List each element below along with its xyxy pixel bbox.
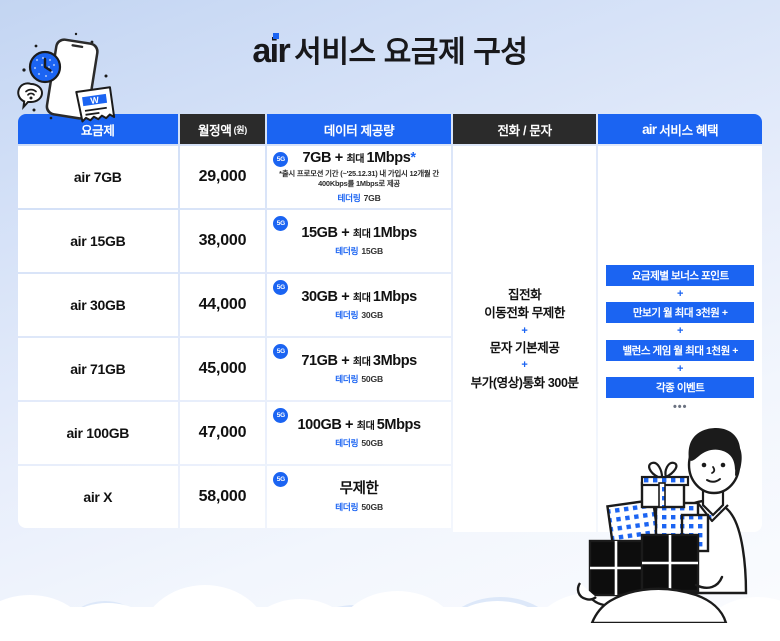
tethering-info: 테더링50GB <box>335 501 383 513</box>
header-monthly-fee: 월정액(원) <box>180 114 266 144</box>
plan-name: air 15GB <box>70 233 125 249</box>
plan-name: air X <box>83 489 112 505</box>
data-amount: 100GB + 최대 5Mbps <box>297 417 420 434</box>
5g-badge-icon: 5G <box>273 280 288 295</box>
price-cell: 38,000 <box>180 210 266 272</box>
table-row[interactable]: air 15GB <box>18 210 178 272</box>
price-value: 47,000 <box>199 424 247 442</box>
price-value: 29,000 <box>199 168 247 186</box>
column-plan-names: air 7GB air 15GB air 30GB air 71GB air 1… <box>18 146 178 532</box>
voice-details: 집전화 이동전화 무제한 + 문자 기본제공 + 부가(영상)통화 300분 <box>471 286 579 392</box>
header-voice-sms: 전화 / 문자 <box>453 114 597 144</box>
plus-separator: + <box>677 361 683 378</box>
voice-line-2: 이동전화 무제한 <box>471 304 579 322</box>
price-value: 44,000 <box>199 296 247 314</box>
data-amount: 30GB + 최대 1Mbps <box>301 289 417 306</box>
gift-person-illustration <box>570 423 780 623</box>
benefit-pill-bonus-points[interactable]: 요금제별 보너스 포인트 <box>606 265 754 286</box>
price-value: 38,000 <box>199 232 247 250</box>
benefit-pill-pedometer[interactable]: 만보기 월 최대 3천원 + <box>606 302 754 323</box>
5g-badge-icon: 5G <box>273 344 288 359</box>
data-amount: 무제한 <box>340 481 379 498</box>
voice-line-1: 집전화 <box>471 286 579 304</box>
brand-text: air <box>252 32 289 70</box>
plus-separator: + <box>677 286 683 303</box>
tethering-info: 테더링50GB <box>335 437 383 449</box>
plan-name: air 100GB <box>66 425 129 441</box>
benefits-list: 요금제별 보너스 포인트 + 만보기 월 최대 3천원 + + 밸런스 게임 월… <box>604 265 756 414</box>
data-cell: 5G 7GB + 최대 1Mbps* *출시 프로모션 기간 (~'25.12.… <box>267 146 451 208</box>
data-amount: 15GB + 최대 1Mbps <box>301 225 417 242</box>
price-value: 45,000 <box>199 360 247 378</box>
5g-badge-icon: 5G <box>273 216 288 231</box>
data-cell: 5G 15GB + 최대 1Mbps 테더링15GB <box>267 210 451 272</box>
benefit-pill-balance-game[interactable]: 밸런스 게임 월 최대 1천원 + <box>606 340 754 361</box>
voice-line-3: 문자 기본제공 <box>471 339 579 357</box>
plan-name: air 71GB <box>70 361 125 377</box>
plus-separator: + <box>677 323 683 340</box>
data-cell: 5G 71GB + 최대 3Mbps 테더링50GB <box>267 338 451 400</box>
5g-badge-icon: 5G <box>273 408 288 423</box>
table-row[interactable]: air X <box>18 466 178 528</box>
brand-logo: air <box>252 34 289 68</box>
plus-separator: + <box>471 323 579 340</box>
brand-dot-icon <box>273 33 279 39</box>
phone-illustration: W <box>16 22 124 130</box>
poster-canvas: air서비스 요금제 구성 <box>0 0 780 641</box>
tethering-info: 테더링50GB <box>335 373 383 385</box>
benefit-pill-events[interactable]: 각종 이벤트 <box>606 377 754 398</box>
data-cell: 5G 무제한 테더링50GB <box>267 466 451 528</box>
title-text: 서비스 요금제 구성 <box>294 36 527 69</box>
price-cell: 58,000 <box>180 466 266 528</box>
data-cell: 5G 30GB + 최대 1Mbps 테더링30GB <box>267 274 451 336</box>
plan-name: air 7GB <box>74 169 122 185</box>
price-cell: 45,000 <box>180 338 266 400</box>
table-header-row: 요금제 월정액(원) 데이터 제공량 전화 / 문자 air서비스 혜택 <box>18 114 762 144</box>
plus-separator: + <box>471 357 579 374</box>
price-value: 58,000 <box>199 488 247 506</box>
table-row[interactable]: air 100GB <box>18 402 178 464</box>
more-benefits-indicator: ••• <box>673 402 688 413</box>
price-cell: 29,000 <box>180 146 266 208</box>
promo-note: *출시 프로모션 기간 (~'25.12.31) 내 가입시 12개월 간 40… <box>273 169 445 189</box>
data-cell: 5G 100GB + 최대 5Mbps 테더링50GB <box>267 402 451 464</box>
header-air-benefits: air서비스 혜택 <box>598 114 762 144</box>
data-amount: 7GB + 최대 1Mbps* <box>303 150 416 167</box>
column-data-allowance: 5G 7GB + 최대 1Mbps* *출시 프로모션 기간 (~'25.12.… <box>267 146 451 532</box>
price-cell: 44,000 <box>180 274 266 336</box>
tethering-info: 테더링7GB <box>337 192 380 204</box>
5g-badge-icon: 5G <box>273 472 288 487</box>
tethering-info: 테더링15GB <box>335 245 383 257</box>
voice-line-4: 부가(영상)통화 300분 <box>471 374 579 392</box>
tethering-info: 테더링30GB <box>335 309 383 321</box>
table-row[interactable]: air 7GB <box>18 146 178 208</box>
table-row[interactable]: air 30GB <box>18 274 178 336</box>
column-monthly-fee: 29,000 38,000 44,000 45,000 47,000 58,00… <box>180 146 266 532</box>
price-cell: 47,000 <box>180 402 266 464</box>
plan-name: air 30GB <box>70 297 125 313</box>
data-amount: 71GB + 최대 3Mbps <box>301 353 417 370</box>
header-data-allowance: 데이터 제공량 <box>267 114 451 144</box>
table-row[interactable]: air 71GB <box>18 338 178 400</box>
5g-badge-icon: 5G <box>273 152 288 167</box>
